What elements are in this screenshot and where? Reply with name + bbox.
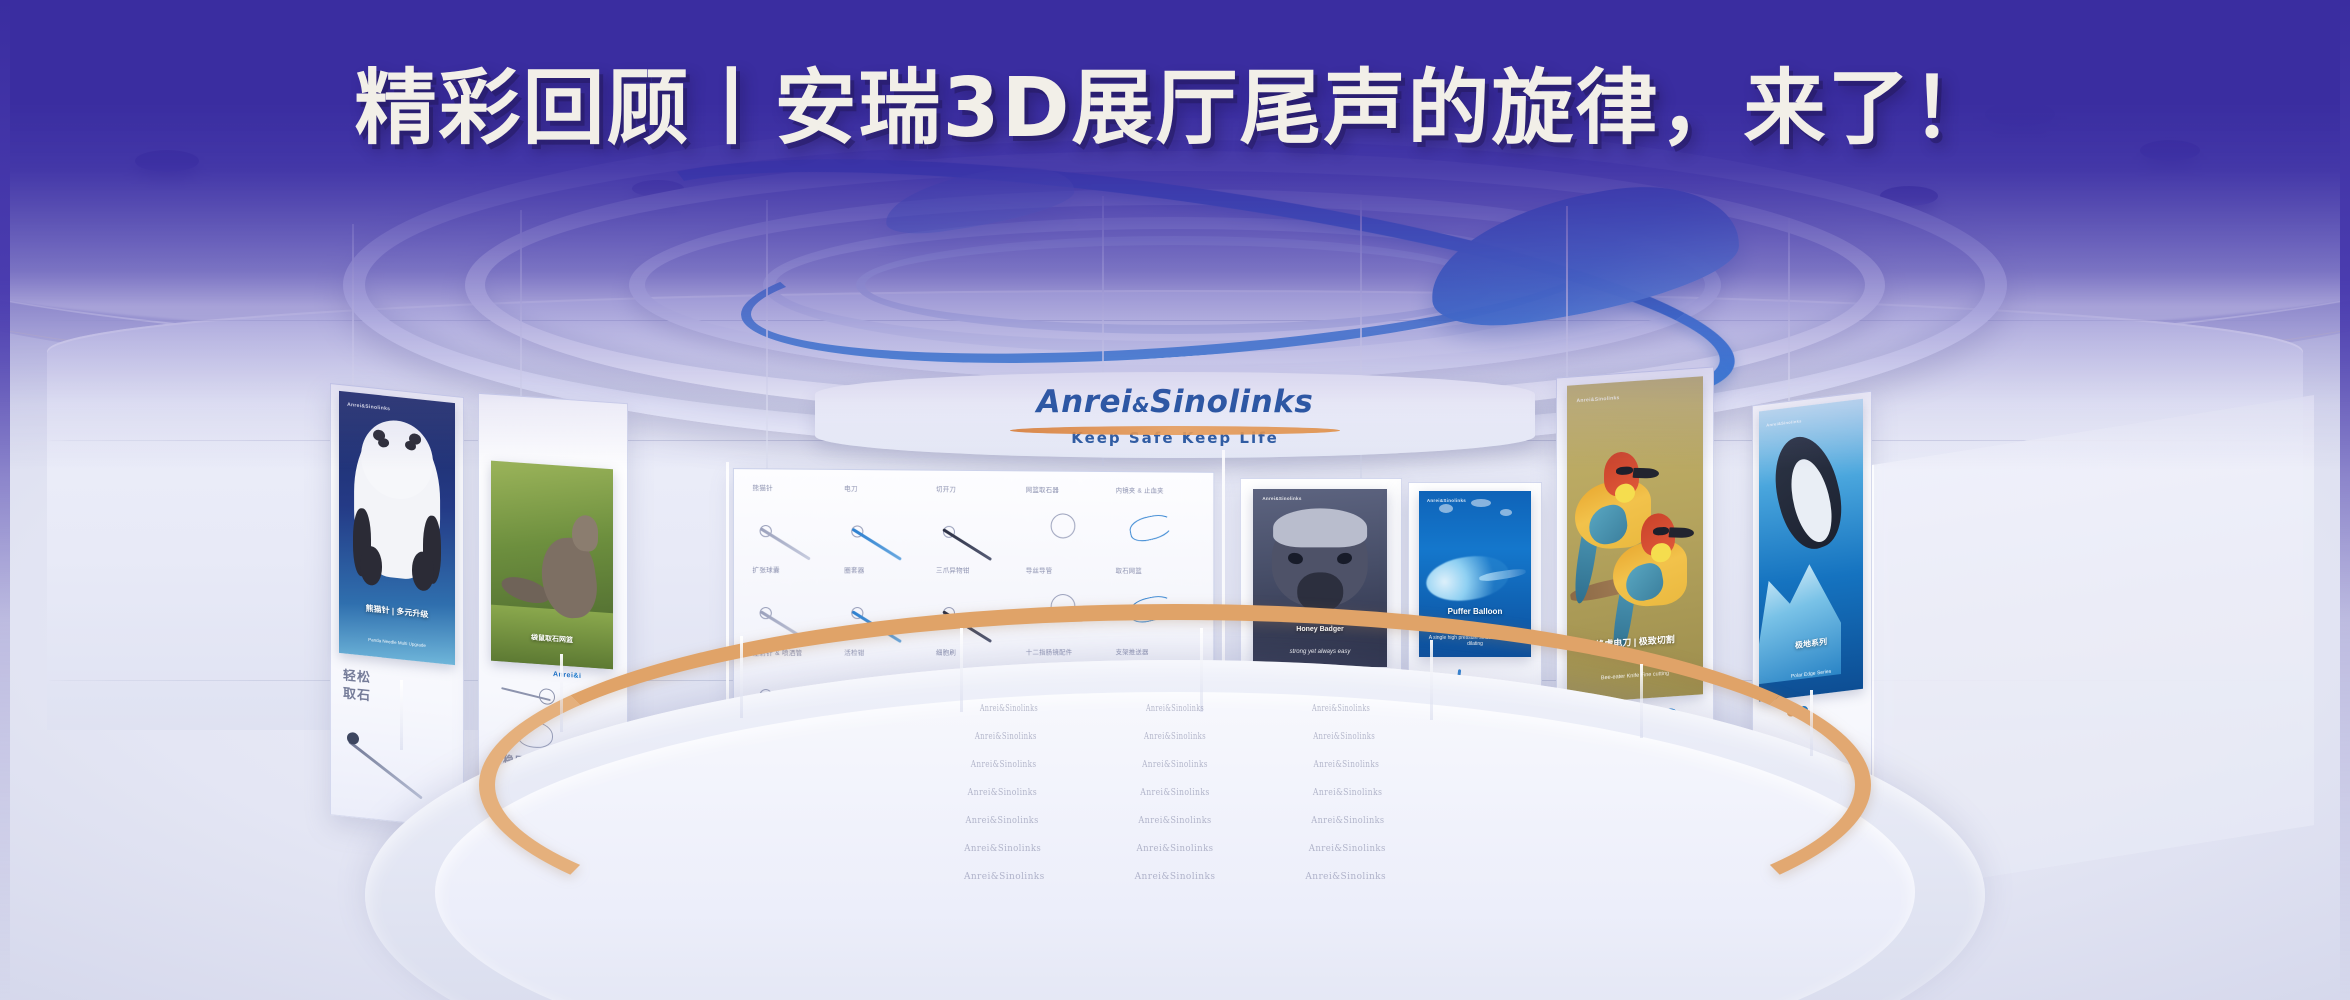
podium-stanchion bbox=[1810, 690, 1813, 756]
instrument-label: 取石网篮 bbox=[1115, 567, 1141, 576]
bubble-decoration bbox=[1500, 509, 1512, 516]
logo-ampersand: & bbox=[1132, 393, 1150, 417]
instrument-illustration-panda bbox=[347, 730, 443, 810]
instrument-cell[interactable]: 切开刀 bbox=[934, 485, 1020, 563]
instrument-label: 熊猫针 bbox=[752, 483, 773, 492]
instrument-illustration bbox=[1031, 510, 1098, 550]
panda-eye-left bbox=[378, 437, 390, 447]
bird-throat bbox=[1651, 543, 1670, 563]
exhibition-hall-banner: Anrei&Sinolinks Keep Safe Keep Life Anre… bbox=[0, 0, 2350, 1000]
badger-snout bbox=[1297, 573, 1343, 612]
instrument-illustration bbox=[850, 509, 918, 550]
podium-text-row: Anrei&SinolinksAnrei&SinolinksAnrei&Sino… bbox=[622, 844, 1728, 854]
badger-head-cap bbox=[1273, 509, 1367, 548]
instrument-illustration bbox=[757, 509, 826, 550]
poster-brand: Anrei&Sinolinks bbox=[347, 402, 390, 413]
bird-beak-icon bbox=[1669, 528, 1695, 539]
podium-stanchion bbox=[960, 628, 963, 712]
kangaroo-head bbox=[572, 514, 599, 552]
podium-text-item: Anrei&Sinolinks bbox=[971, 760, 1037, 770]
instrument-label: 三爪异物钳 bbox=[936, 566, 970, 575]
poster-subtitle: Panda Needle Multi Upgrade bbox=[348, 635, 445, 651]
instrument-label: 扩张球囊 bbox=[752, 566, 779, 575]
instrument-label: 网篮取石器 bbox=[1026, 485, 1059, 494]
poster-brand: Anrei&Sinolinks bbox=[1262, 496, 1301, 501]
poster-title: Puffer Balloon bbox=[1428, 607, 1522, 617]
instrument-label: 导丝导管 bbox=[1026, 566, 1053, 575]
podium-text-item: Anrei&Sinolinks bbox=[1312, 704, 1370, 714]
instrument-label: 圈套器 bbox=[845, 566, 865, 575]
instrument-illustration bbox=[941, 510, 1008, 551]
podium-text-row: Anrei&SinolinksAnrei&SinolinksAnrei&Sino… bbox=[730, 732, 1619, 742]
podium-text-row: Anrei&SinolinksAnrei&SinolinksAnrei&Sino… bbox=[676, 788, 1674, 798]
instrument-snare bbox=[1127, 512, 1175, 544]
hall-logo-banner: Anrei&Sinolinks Keep Safe Keep Life bbox=[815, 372, 1535, 458]
podium-text-row: Anrei&SinolinksAnrei&SinolinksAnrei&Sino… bbox=[703, 760, 1646, 770]
bubble-decoration bbox=[1439, 504, 1453, 513]
podium-text-item: Anrei&Sinolinks bbox=[1142, 760, 1208, 770]
page-title: 精彩回顾丨安瑞3D展厅尾声的旋律，来了！ bbox=[354, 41, 1995, 160]
bird-beak-icon bbox=[1633, 467, 1660, 478]
instrument-shaft bbox=[759, 527, 810, 560]
podium-text-item: Anrei&Sinolinks bbox=[1135, 872, 1216, 882]
poster-brand: Anrei&Sinolinks bbox=[1577, 395, 1620, 404]
instrument-label: 切开刀 bbox=[936, 485, 956, 494]
podium-text-item: Anrei&Sinolinks bbox=[1314, 760, 1380, 770]
podium-text-item: Anrei&Sinolinks bbox=[980, 704, 1038, 714]
podium-engraved-text: Anrei&SinolinksAnrei&SinolinksAnrei&Sino… bbox=[595, 704, 1755, 954]
instrument-loop bbox=[1047, 510, 1079, 543]
hanging-rod bbox=[766, 200, 768, 500]
instrument-shaft bbox=[943, 528, 993, 561]
balloon-dilator-shape bbox=[1423, 552, 1511, 606]
podium-text-row: Anrei&SinolinksAnrei&SinolinksAnrei&Sino… bbox=[595, 872, 1755, 882]
podium-text-item: Anrei&Sinolinks bbox=[1313, 732, 1375, 742]
podium-text-item: Anrei&Sinolinks bbox=[968, 788, 1037, 798]
podium-text-item: Anrei&Sinolinks bbox=[1138, 816, 1211, 826]
kangaroo-panel-logo: Anrei&i bbox=[553, 671, 581, 680]
banner-title-area: 精彩回顾丨安瑞3D展厅尾声的旋律，来了！ bbox=[0, 0, 2350, 200]
panda-leg-left bbox=[360, 545, 382, 587]
instrument-shaft bbox=[851, 528, 901, 561]
instrument-cell[interactable]: 熊猫针 bbox=[750, 483, 838, 562]
poster-title: 熊猫针 | 多元升级 bbox=[348, 602, 445, 622]
logo-swoosh-icon bbox=[1010, 426, 1340, 435]
podium-stanchion bbox=[560, 654, 563, 732]
podium-text-item: Anrei&Sinolinks bbox=[1309, 844, 1386, 854]
instrument-label: 电刀 bbox=[845, 484, 859, 493]
podium-text-row: Anrei&SinolinksAnrei&SinolinksAnrei&Sino… bbox=[649, 816, 1701, 826]
podium-text-item: Anrei&Sinolinks bbox=[1313, 788, 1382, 798]
panel-caption-panda: 轻松 取石 bbox=[343, 667, 371, 705]
podium-text-item: Anrei&Sinolinks bbox=[964, 872, 1045, 882]
podium-text-item: Anrei&Sinolinks bbox=[975, 732, 1037, 742]
instrument-label: 内镜夹 & 止血夹 bbox=[1115, 486, 1163, 495]
instrument-cell[interactable]: 内镜夹 & 止血夹 bbox=[1113, 486, 1198, 563]
poster-penguin[interactable]: Anrei&Sinolinks 极地系列 Polar Edge Series bbox=[1759, 399, 1863, 702]
bubble-decoration bbox=[1471, 499, 1491, 507]
podium-text-item: Anrei&Sinolinks bbox=[1137, 844, 1214, 854]
instrument-illustration bbox=[757, 591, 826, 632]
iceberg-shape bbox=[1759, 558, 1841, 685]
exhibit-panel-panda[interactable]: Anrei&Sinolinks 熊猫针 | 多元升级 Panda Needle … bbox=[330, 383, 464, 829]
instrument-cell[interactable]: 网篮取石器 bbox=[1024, 485, 1109, 562]
podium-text-item: Anrei&Sinolinks bbox=[964, 844, 1041, 854]
podium-text-item: Anrei&Sinolinks bbox=[1144, 732, 1206, 742]
podium-text-item: Anrei&Sinolinks bbox=[966, 816, 1039, 826]
instrument-illustration bbox=[1120, 511, 1186, 551]
poster-panda[interactable]: Anrei&Sinolinks 熊猫针 | 多元升级 Panda Needle … bbox=[339, 391, 455, 665]
podium-stanchion bbox=[1200, 628, 1203, 712]
poster-kangaroo[interactable]: 袋鼠取石网篮 bbox=[491, 461, 613, 670]
hall-logo-wordmark: Anrei&Sinolinks bbox=[1037, 384, 1314, 420]
instrument-cell[interactable]: 电刀 bbox=[843, 484, 930, 562]
logo-name-b: Sinolinks bbox=[1150, 384, 1313, 420]
podium-text-item: Anrei&Sinolinks bbox=[1146, 704, 1204, 714]
podium-text-item: Anrei&Sinolinks bbox=[1311, 816, 1384, 826]
podium-text-row: Anrei&SinolinksAnrei&SinolinksAnrei&Sino… bbox=[757, 704, 1592, 714]
poster-brand: Anrei&Sinolinks bbox=[1766, 418, 1801, 427]
podium-text-item: Anrei&Sinolinks bbox=[1140, 788, 1209, 798]
podium-text-item: Anrei&Sinolinks bbox=[1305, 872, 1386, 882]
poster-brand: Anrei&Sinolinks bbox=[1427, 498, 1466, 503]
logo-name-a: Anrei bbox=[1037, 384, 1133, 420]
podium-stanchion bbox=[400, 680, 403, 750]
